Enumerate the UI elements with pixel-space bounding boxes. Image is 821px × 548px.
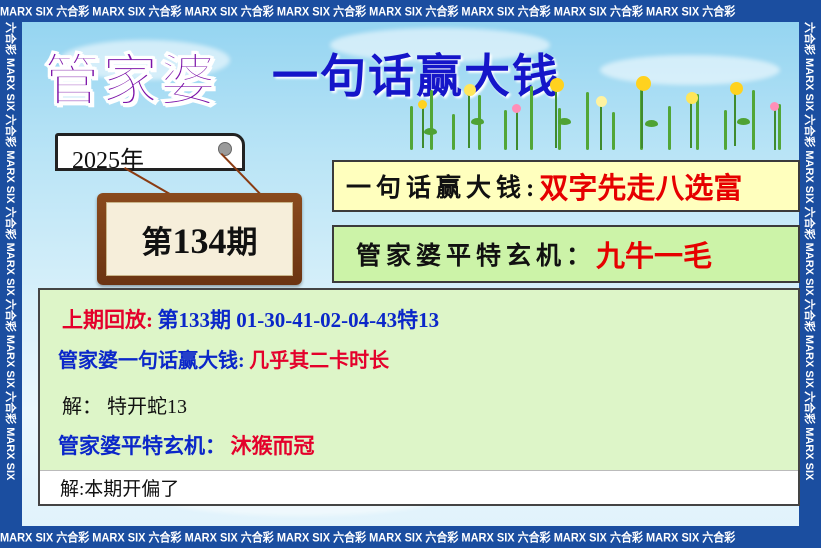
slogan-panel-label: 一句话赢大钱: [346,168,539,204]
marquee-right-text: 六合彩 MARX SIX 六合彩 MARX SIX 六合彩 MARX SIX 六… [799,22,821,526]
xuanji-panel: 管家婆平特玄机： 九牛一毛 [332,225,800,283]
issue-plaque-inner: 第134期 [106,202,293,276]
issue-number: 134 [173,221,227,261]
flower-decoration [400,70,799,150]
replay-label: 上期回放: [62,308,153,332]
prev-slogan-value: 几乎其二卡时长 [249,350,389,372]
prev-xuanji-value: 沐猴而冠 [230,434,314,458]
prev-xuanji-row: 管家婆平特玄机： 沐猴而冠 [40,430,798,460]
marquee-top: MARX SIX 六合彩 MARX SIX 六合彩 MARX SIX 六合彩 M… [0,0,821,22]
brand-title: 管家婆 [44,36,218,117]
replay-value: 第133期 01-30-41-02-04-43特13 [157,308,439,332]
issue-suffix: 期 [227,225,258,260]
prev-xuanji-label: 管家婆平特玄机： [58,434,226,458]
issue-plaque: 第134期 [97,193,302,285]
answer-1-text: 解： 特开蛇13 [62,396,187,418]
year-label: 2025年 [72,140,144,175]
poster-canvas: MARX SIX 六合彩 MARX SIX 六合彩 MARX SIX 六合彩 M… [0,0,821,548]
issue-prefix: 第 [142,225,173,260]
prev-slogan-label: 管家婆一句话赢大钱: [58,350,245,372]
marquee-bottom-text: MARX SIX 六合彩 MARX SIX 六合彩 MARX SIX 六合彩 M… [0,528,735,546]
prev-slogan-row: 管家婆一句话赢大钱: 几乎其二卡时长 [40,344,798,373]
replay-row: 上期回放: 第133期 01-30-41-02-04-43特13 [40,304,798,334]
xuanji-panel-label: 管家婆平特玄机： [356,236,596,272]
marquee-left: 六合彩 MARX SIX 六合彩 MARX SIX 六合彩 MARX SIX 六… [0,22,22,526]
previous-issue-box: 上期回放: 第133期 01-30-41-02-04-43特13 管家婆一句话赢… [38,288,800,506]
issue-text: 第134期 [107,217,292,262]
marquee-top-text: MARX SIX 六合彩 MARX SIX 六合彩 MARX SIX 六合彩 M… [0,2,735,20]
marquee-right: 六合彩 MARX SIX 六合彩 MARX SIX 六合彩 MARX SIX 六… [799,22,821,526]
answer-row-1: 解： 特开蛇13 [40,390,798,419]
slogan-panel: 一句话赢大钱: 双字先走八选富 [332,160,800,212]
answer-2-text: 解:本期开偏了 [60,474,179,501]
marquee-left-text: 六合彩 MARX SIX 六合彩 MARX SIX 六合彩 MARX SIX 六… [0,22,22,526]
issue-signboard: 2025年 第134期 [55,133,345,288]
slogan-panel-value: 双字先走八选富 [539,165,742,207]
year-plate: 2025年 [55,133,245,171]
answer-row-2: 解:本期开偏了 [40,470,798,504]
xuanji-panel-value: 九牛一毛 [596,233,712,275]
marquee-bottom: MARX SIX 六合彩 MARX SIX 六合彩 MARX SIX 六合彩 M… [0,526,821,548]
